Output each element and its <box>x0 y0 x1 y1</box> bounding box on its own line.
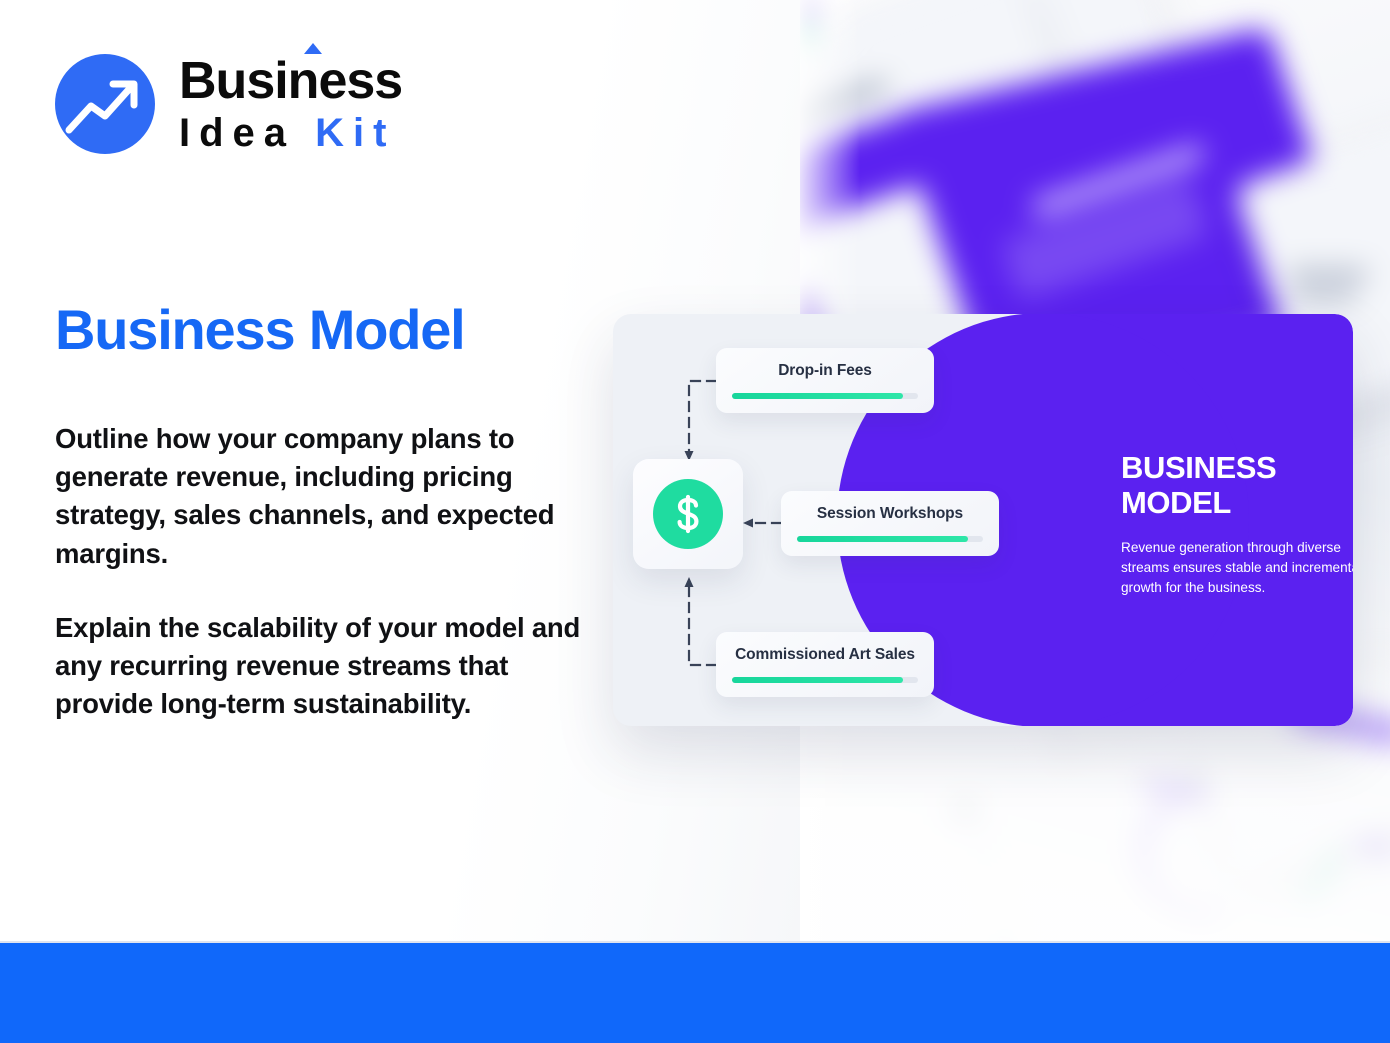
brand-wordmark: Business Idea Kit <box>179 55 402 153</box>
brand-name-text: Business <box>179 52 402 110</box>
node-label: Commissioned Art Sales <box>735 646 915 664</box>
brand-name-line1: Business <box>179 55 402 107</box>
revenue-node-session-workshops[interactable]: Session Workshops <box>781 491 999 556</box>
brand-logo: Business Idea Kit <box>55 54 402 154</box>
footer-band <box>0 941 1390 1043</box>
growth-arrow-icon <box>55 54 155 154</box>
brand-kit-text: Kit <box>315 111 395 155</box>
body-paragraph-2: Explain the scalability of your model an… <box>55 609 585 724</box>
node-progress-track <box>732 677 918 683</box>
panel-description: Revenue generation through diverse strea… <box>1121 538 1353 598</box>
brand-name-line2: Idea Kit <box>179 113 402 153</box>
node-progress-fill <box>797 536 968 542</box>
revenue-node-commissioned-art-sales[interactable]: Commissioned Art Sales <box>716 632 934 697</box>
business-model-card: BUSINESS MODEL Revenue generation throug… <box>613 314 1353 726</box>
slide-canvas: Business Idea Kit Business Model Outline… <box>0 0 1390 1043</box>
node-progress-track <box>732 393 918 399</box>
revenue-hub-tile <box>633 459 743 569</box>
node-progress-fill <box>732 677 903 683</box>
backdrop-text-block <box>1293 290 1357 301</box>
circumflex-accent-icon <box>304 43 322 54</box>
purple-summary-panel: BUSINESS MODEL Revenue generation throug… <box>1043 314 1353 726</box>
revenue-node-drop-in-fees[interactable]: Drop-in Fees <box>716 348 934 413</box>
node-label: Session Workshops <box>817 505 963 523</box>
backdrop-text-block <box>1288 268 1368 281</box>
panel-title: BUSINESS MODEL <box>1121 450 1353 521</box>
page-title: Business Model <box>55 297 465 362</box>
brand-idea-text: Idea <box>179 111 295 155</box>
node-label: Drop-in Fees <box>778 362 872 380</box>
node-progress-track <box>797 536 983 542</box>
dollar-sign-icon <box>653 479 723 549</box>
body-paragraph-1: Outline how your company plans to genera… <box>55 420 585 573</box>
purple-panel-content: BUSINESS MODEL Revenue generation throug… <box>1121 450 1353 598</box>
node-progress-fill <box>732 393 903 399</box>
